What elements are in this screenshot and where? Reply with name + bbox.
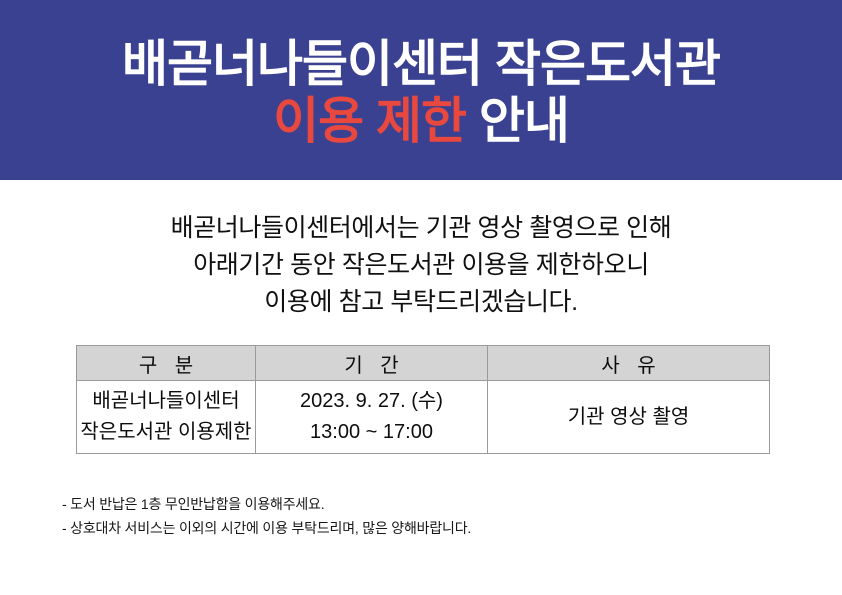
notice-body: 배곧너나들이센터에서는 기관 영상 촬영으로 인해 아래기간 동안 작은도서관 … <box>0 210 842 321</box>
cell-period-time: 13:00 ~ 17:00 <box>256 417 487 448</box>
banner-title-line-1: 배곧너나들이센터 작은도서관 <box>122 39 720 90</box>
title-banner: 배곧너나들이센터 작은도서관 이용 제한 안내 <box>0 0 842 180</box>
banner-title-line-2: 이용 제한 안내 <box>273 96 569 147</box>
banner-title-restriction-text: 이용 제한 <box>273 93 466 149</box>
footer-note-1: - 도서 반납은 1층 무인반납함을 이용해주세요. <box>62 492 842 516</box>
schedule-table-container: 구 분 기 간 사 유 배곧너나들이센터 작은도서관 이용제한 2023. 9.… <box>76 345 766 454</box>
schedule-table-body: 배곧너나들이센터 작은도서관 이용제한 2023. 9. 27. (수) 13:… <box>77 381 770 454</box>
cell-reason: 기관 영상 촬영 <box>488 381 770 454</box>
footer-note-2: - 상호대차 서비스는 이외의 시간에 이용 부탁드리며, 많은 양해바랍니다. <box>62 516 842 540</box>
column-header-division: 구 분 <box>77 346 256 381</box>
cell-division: 배곧너나들이센터 작은도서관 이용제한 <box>77 381 256 454</box>
table-header-row: 구 분 기 간 사 유 <box>77 346 770 381</box>
schedule-table: 구 분 기 간 사 유 배곧너나들이센터 작은도서관 이용제한 2023. 9.… <box>76 345 770 454</box>
cell-division-line-2: 작은도서관 이용제한 <box>77 417 255 448</box>
footer-notes: - 도서 반납은 1층 무인반납함을 이용해주세요. - 상호대차 서비스는 이… <box>62 492 842 540</box>
column-header-period: 기 간 <box>256 346 488 381</box>
banner-title-notice-text: 안내 <box>479 93 569 149</box>
table-row: 배곧너나들이센터 작은도서관 이용제한 2023. 9. 27. (수) 13:… <box>77 381 770 454</box>
notice-body-line-1: 배곧너나들이센터에서는 기관 영상 촬영으로 인해 <box>0 210 842 247</box>
notice-body-line-3: 이용에 참고 부탁드리겠습니다. <box>0 284 842 321</box>
notice-body-line-2: 아래기간 동안 작은도서관 이용을 제한하오니 <box>0 247 842 284</box>
cell-division-line-1: 배곧너나들이센터 <box>77 386 255 417</box>
cell-period-date: 2023. 9. 27. (수) <box>256 386 487 417</box>
cell-period: 2023. 9. 27. (수) 13:00 ~ 17:00 <box>256 381 488 454</box>
column-header-reason: 사 유 <box>488 346 770 381</box>
schedule-table-head: 구 분 기 간 사 유 <box>77 346 770 381</box>
